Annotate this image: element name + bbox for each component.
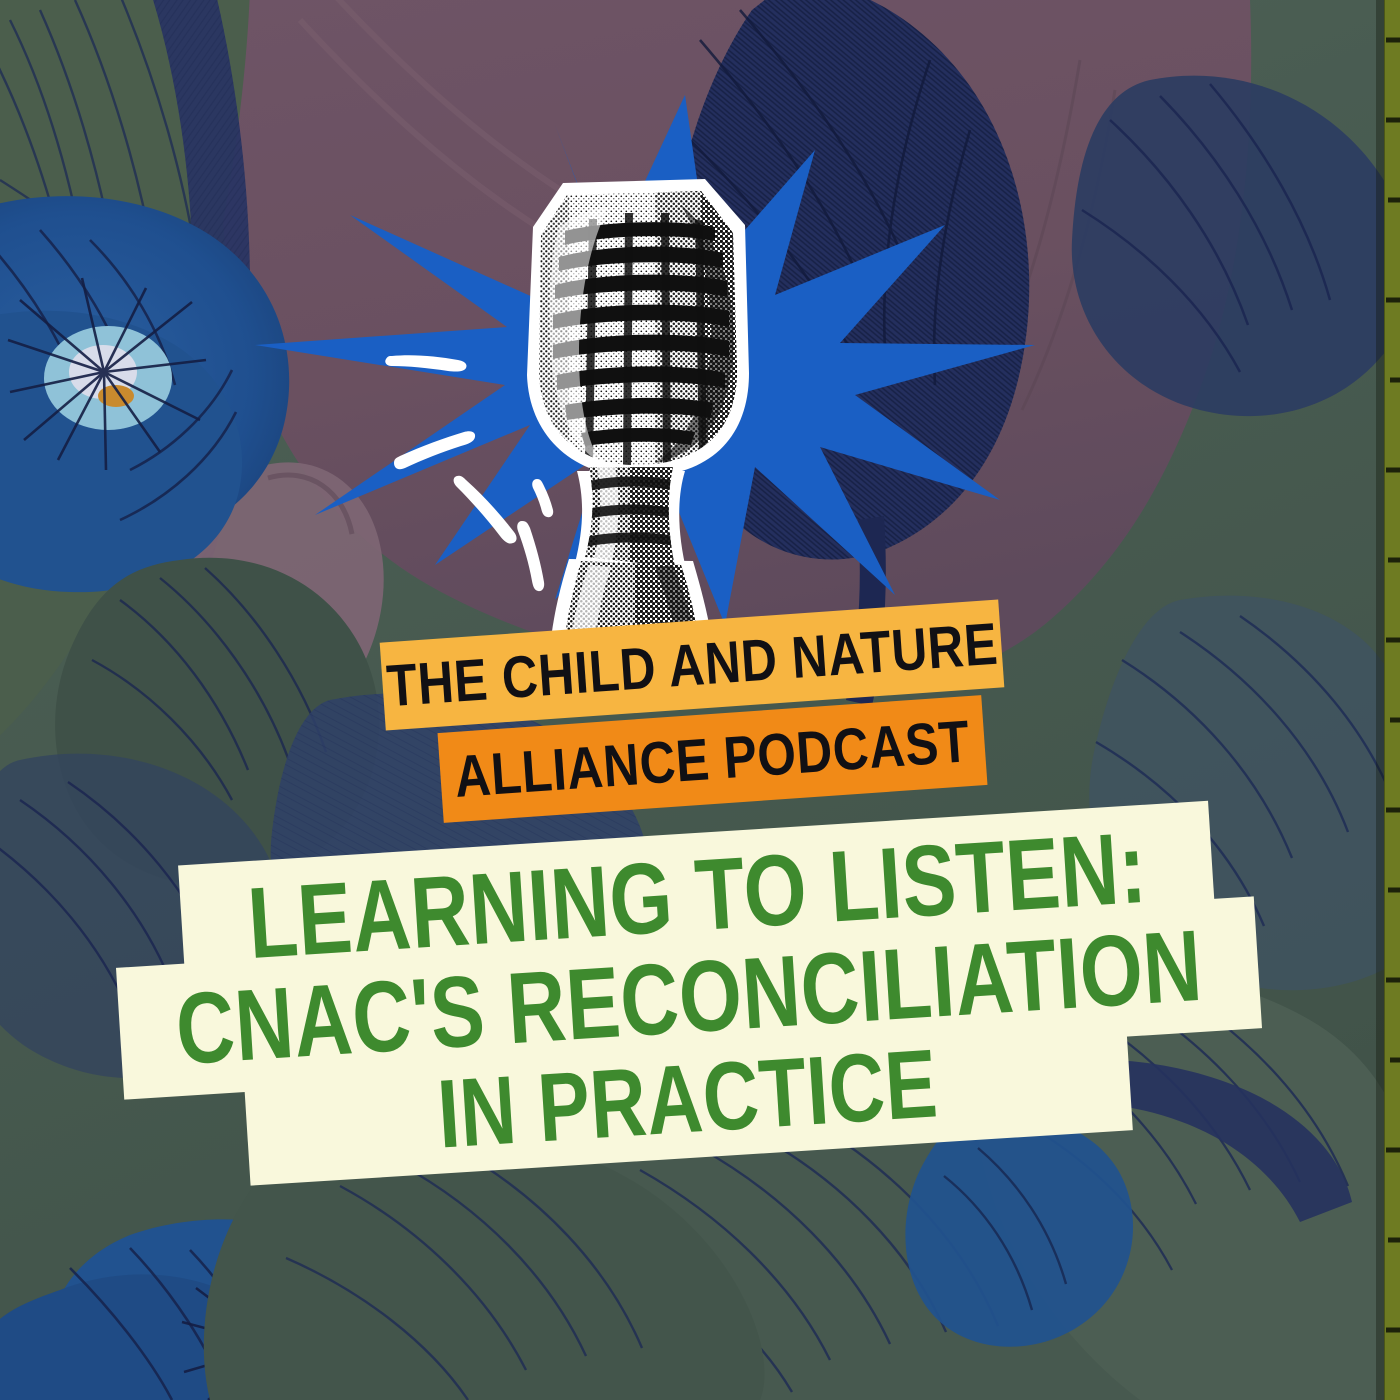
retro-microphone-icon <box>505 175 770 660</box>
podcast-cover-art: THE CHILD AND NATURE ALLIANCE PODCAST LE… <box>0 0 1400 1400</box>
